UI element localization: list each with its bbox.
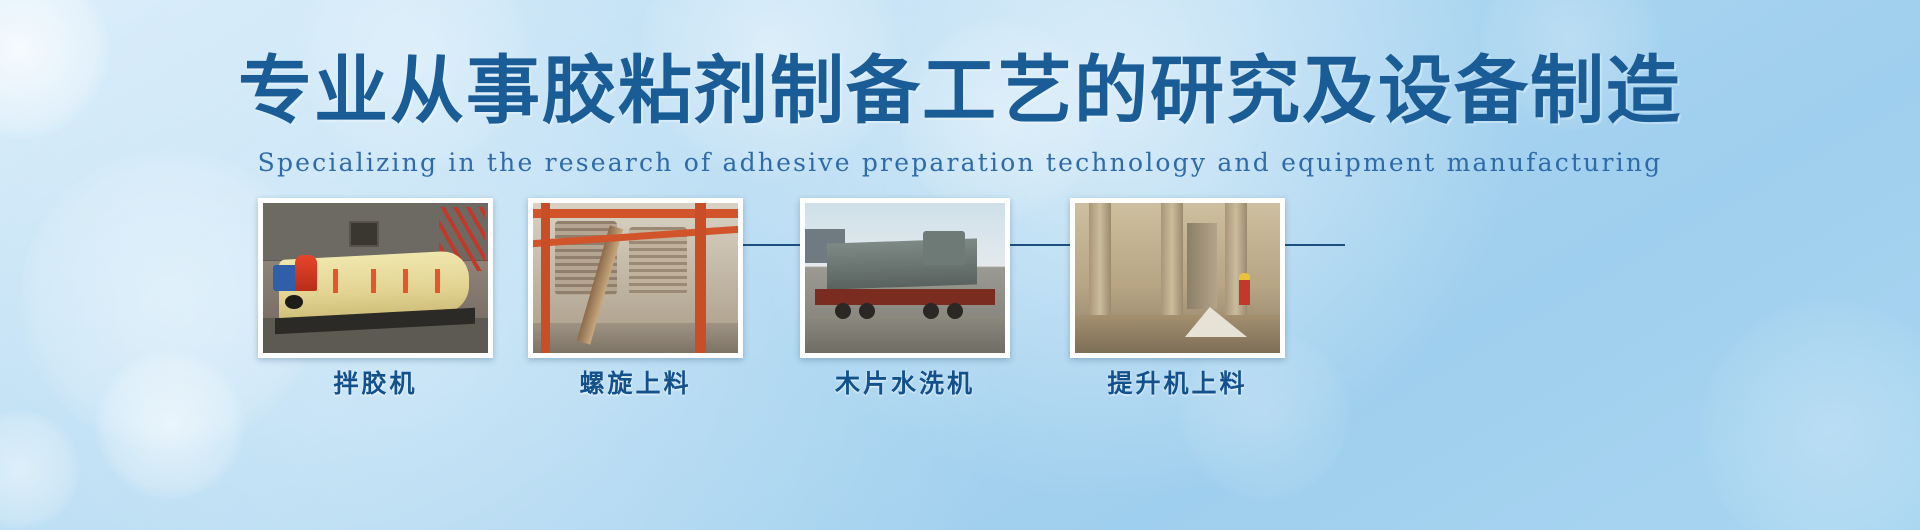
screw-feeder-photo[interactable] — [528, 198, 743, 358]
glue-mixer-photo[interactable] — [258, 198, 493, 358]
gallery-item-mixer[interactable]: 拌胶机 — [258, 198, 493, 358]
elevator-feeder-photo[interactable] — [1070, 198, 1285, 358]
gallery-item-chip-washer[interactable]: 木片水洗机 — [800, 198, 1010, 358]
gallery-item-screw-feeder[interactable]: 螺旋上料 — [528, 198, 743, 358]
banner-headline: 专业从事胶粘剂制备工艺的研究及设备制造 — [0, 54, 1920, 128]
gallery-caption: 拌胶机 — [258, 364, 493, 400]
gallery-caption: 螺旋上料 — [528, 364, 743, 400]
equipment-gallery: 拌胶机 螺旋上料 木片水洗机 — [0, 198, 1920, 428]
gallery-caption: 提升机上料 — [1070, 364, 1285, 400]
banner-subtitle: Specializing in the research of adhesive… — [0, 148, 1920, 178]
wood-chip-washer-photo[interactable] — [800, 198, 1010, 358]
promotional-banner: 专业从事胶粘剂制备工艺的研究及设备制造 Specializing in the … — [0, 0, 1920, 530]
gallery-item-elevator-feeder[interactable]: 提升机上料 — [1070, 198, 1285, 358]
gallery-caption: 木片水洗机 — [800, 364, 1010, 400]
connector-line — [1000, 244, 1070, 246]
bokeh-circle-icon — [0, 410, 80, 530]
connector-line — [1275, 244, 1345, 246]
